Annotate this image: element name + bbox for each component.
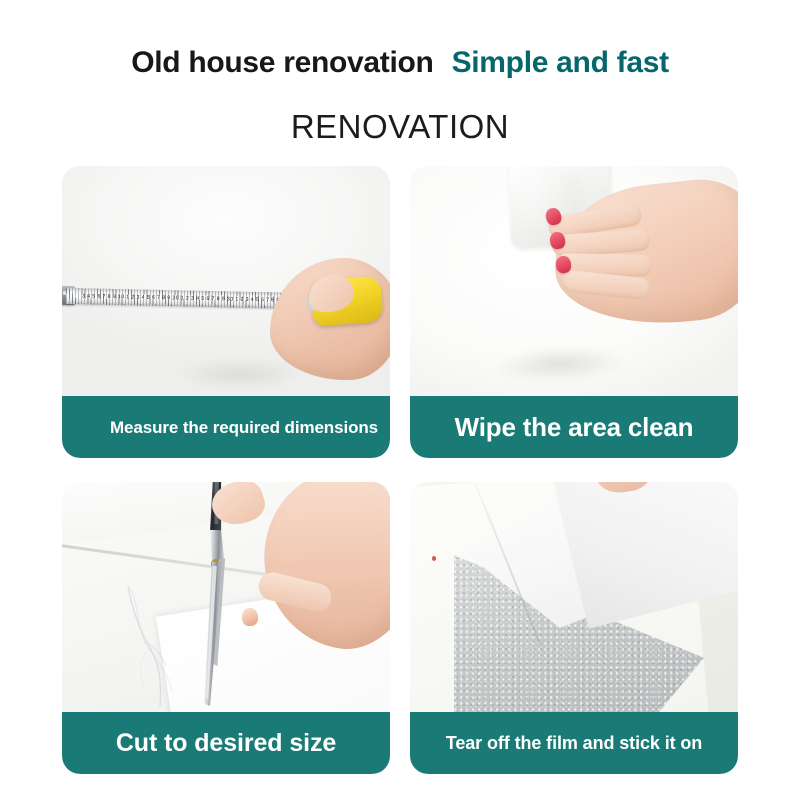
step-caption-text: Cut to desired size (116, 731, 336, 756)
step-caption-bar-measure: Measure the required dimensions (62, 396, 390, 458)
step-caption-text: Tear off the film and stick it on (446, 734, 702, 752)
step-card-cut[interactable]: Cut to desired size (62, 482, 390, 774)
step-caption-bar-wipe: Wipe the area clean (410, 396, 738, 458)
step-caption-text: Wipe the area clean (455, 414, 694, 440)
step-caption-text: Measure the required dimensions (110, 419, 378, 436)
page-title-accent: Simple and fast (452, 46, 669, 79)
step-caption-bar-cut: Cut to desired size (62, 712, 390, 774)
page-title: Old house renovationSimple and fast (0, 46, 800, 80)
page-header: Old house renovationSimple and fast RENO… (0, 0, 800, 160)
fingernail (555, 255, 571, 273)
surface-smudge (494, 344, 626, 385)
product-infographic-page: Old house renovationSimple and fast RENO… (0, 0, 800, 800)
surface-smudge (180, 359, 300, 389)
step-card-peel[interactable]: Tear off the film and stick it on (410, 482, 738, 774)
page-subtitle: RENOVATION (0, 108, 800, 146)
step-card-measure[interactable]: 3 4 5 6 7 8 9 10 1 2 3 4 5 6 7 8 9 20 1 … (62, 166, 390, 458)
page-title-primary: Old house renovation (131, 46, 433, 79)
step-card-wipe[interactable]: Wipe the area clean (410, 166, 738, 458)
steps-grid: 3 4 5 6 7 8 9 10 1 2 3 4 5 6 7 8 9 20 1 … (62, 166, 738, 776)
fingernail (241, 607, 258, 626)
step-caption-bar-peel: Tear off the film and stick it on (410, 712, 738, 774)
surface-mark (432, 556, 436, 561)
